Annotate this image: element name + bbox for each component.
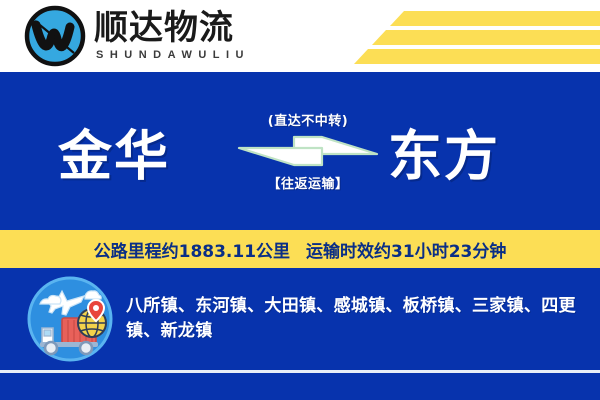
logistics-route-banner: 顺达物流 SHUNDAWULIU 金华 (直达不中转) 【往返运输】 东方 bbox=[0, 0, 600, 400]
road-distance-text: 公路里程约1883.11公里 bbox=[94, 237, 290, 262]
coverage-section: 八所镇、东河镇、大田镇、感城镇、板桥镇、三家镇、四更镇、新龙镇 bbox=[0, 268, 600, 370]
footer-band bbox=[0, 373, 600, 400]
route-band: 金华 (直达不中转) 【往返运输】 东方 bbox=[0, 72, 600, 230]
route-note-roundtrip: 【往返运输】 bbox=[236, 173, 380, 192]
brand-name-en: SHUNDAWULIU bbox=[96, 49, 250, 61]
route-arrow-block: (直达不中转) 【往返运输】 bbox=[236, 110, 380, 192]
origin-city: 金华 bbox=[58, 112, 170, 191]
destination-city: 东方 bbox=[388, 112, 500, 191]
brand-wordmark: 顺达物流 SHUNDAWULIU bbox=[94, 11, 250, 62]
transit-time-text: 运输时效约31小时23分钟 bbox=[306, 237, 506, 262]
route-info-bar: 公路里程约1883.11公里 运输时效约31小时23分钟 bbox=[0, 230, 600, 268]
coverage-areas-text: 八所镇、东河镇、大田镇、感城镇、板桥镇、三家镇、四更镇、新龙镇 bbox=[126, 294, 586, 343]
brand-logo-group[interactable]: 顺达物流 SHUNDAWULIU bbox=[24, 4, 250, 68]
stripe-2 bbox=[372, 30, 600, 45]
decorative-stripes bbox=[340, 0, 600, 72]
banner-header: 顺达物流 SHUNDAWULIU bbox=[0, 0, 600, 72]
double-headed-arrow-icon bbox=[236, 134, 380, 168]
swoosh-circle-logo-icon bbox=[24, 5, 86, 67]
brand-name-cn: 顺达物流 bbox=[94, 11, 250, 47]
truck-plane-globe-icon bbox=[22, 271, 118, 367]
route-note-direct: (直达不中转) bbox=[236, 110, 380, 129]
stripe-1 bbox=[390, 11, 600, 26]
stripe-3 bbox=[354, 49, 600, 64]
